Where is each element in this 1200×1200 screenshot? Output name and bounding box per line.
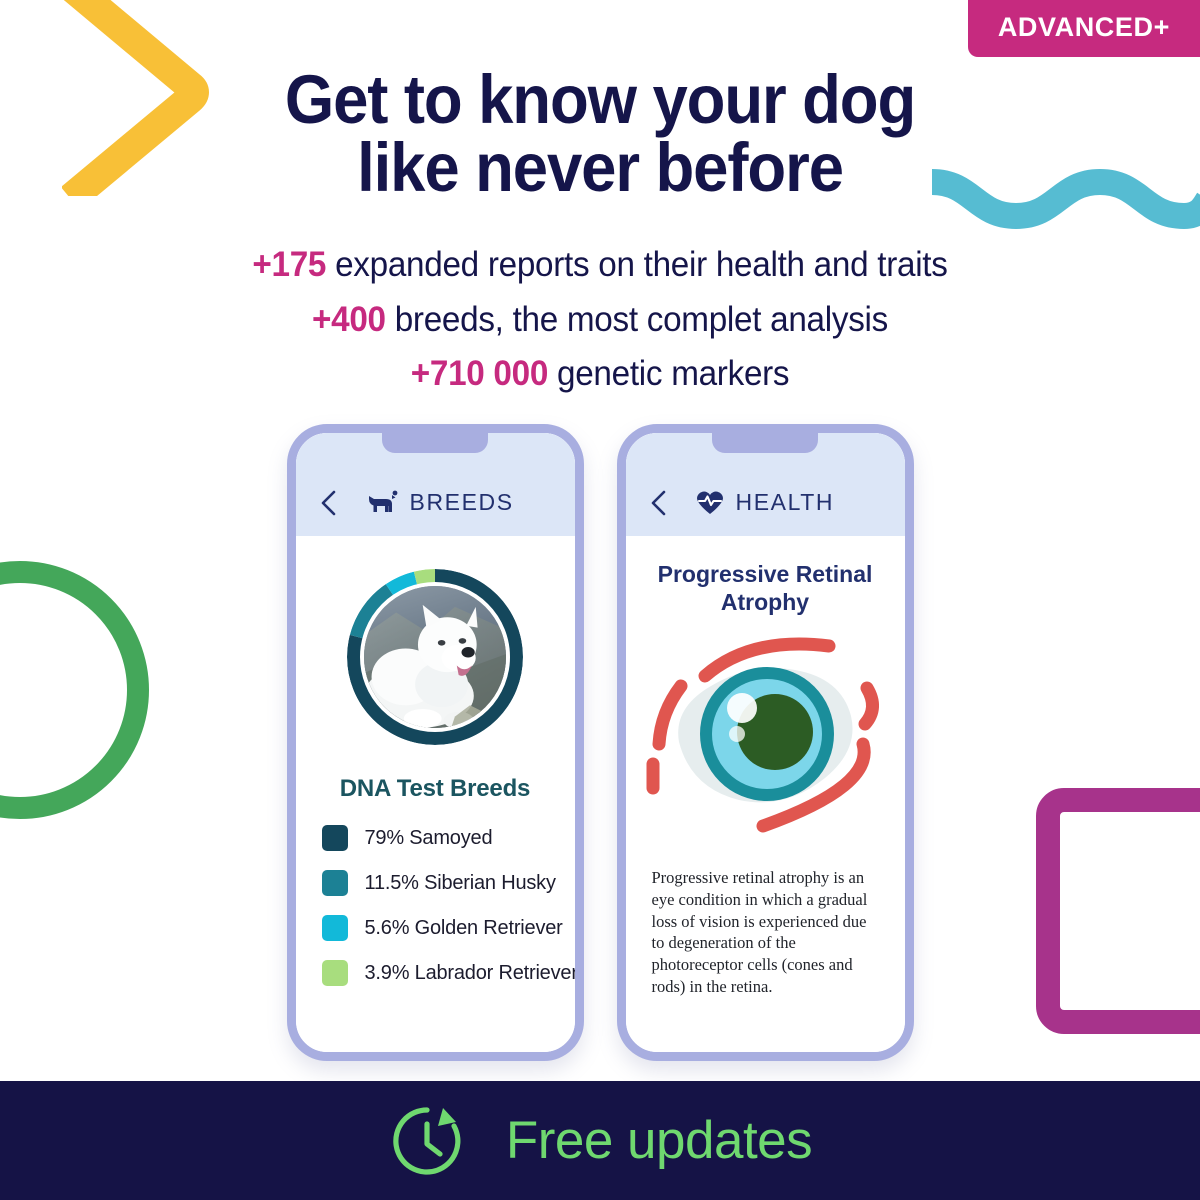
breeds-section-title: DNA Test Breeds	[296, 775, 575, 803]
phone-breeds: BREEDS	[287, 424, 584, 1061]
headline-line-2: like never before	[48, 134, 1152, 202]
breed-label: 11.5% Siberian Husky	[365, 872, 556, 895]
breed-color-swatch	[322, 870, 348, 896]
subheadline-text: expanded reports on their health and tra…	[326, 245, 947, 284]
breed-list: 79% Samoyed 11.5% Siberian Husky 5.6% Go…	[322, 825, 575, 986]
breed-label: 3.9% Labrador Retriever	[365, 962, 575, 985]
breeds-screen-body: DNA Test Breeds 79% Samoyed 11.5% Siberi…	[296, 536, 575, 1052]
samoyed-dog-photo	[360, 582, 510, 732]
breed-list-item: 79% Samoyed	[322, 825, 575, 851]
phone-notch	[712, 433, 818, 453]
phone-side-button	[579, 563, 583, 615]
advanced-plus-badge: ADVANCED+	[968, 0, 1200, 57]
subheadline-number: +400	[312, 300, 386, 339]
subheadline-item: +175 expanded reports on their health an…	[30, 238, 1170, 293]
eye-illustration-wrap	[626, 624, 905, 855]
subheadline-list: +175 expanded reports on their health an…	[30, 238, 1170, 402]
breed-color-swatch	[322, 960, 348, 986]
phone-side-button	[909, 563, 913, 615]
phone-health: HEALTH Progressive Retinal Atrophy	[617, 424, 914, 1061]
dog-avatar	[347, 569, 523, 745]
footer-bar: Free updates	[0, 1081, 1200, 1200]
chevron-left-icon[interactable]	[318, 489, 338, 517]
breeds-header-title: BREEDS	[410, 489, 514, 516]
subheadline-item: +710 000 genetic markers	[30, 347, 1170, 402]
breed-color-swatch	[322, 915, 348, 941]
chevron-left-icon[interactable]	[648, 489, 668, 517]
breed-list-item: 11.5% Siberian Husky	[322, 870, 575, 896]
condition-title: Progressive Retinal Atrophy	[652, 560, 879, 616]
phone-notch	[382, 433, 488, 453]
subheadline-text: breeds, the most complet analysis	[386, 300, 888, 339]
breed-list-item: 3.9% Labrador Retriever	[322, 960, 575, 986]
condition-description: Progressive retinal atrophy is an eye co…	[652, 867, 879, 998]
breed-label: 5.6% Golden Retriever	[365, 917, 563, 940]
phone-mockups: BREEDS	[0, 424, 1200, 1061]
subheadline-number: +710 000	[411, 354, 548, 393]
health-header-title: HEALTH	[736, 489, 835, 516]
phone-side-button	[909, 519, 913, 549]
heart-pulse-icon	[696, 490, 724, 516]
eye-icon	[639, 624, 891, 850]
headline-line-1: Get to know your dog	[285, 61, 915, 138]
health-screen-body: Progressive Retinal Atrophy	[626, 536, 905, 1052]
subheadline-text: genetic markers	[548, 354, 789, 393]
page-title: Get to know your dog like never before	[48, 66, 1152, 203]
breed-label: 79% Samoyed	[365, 827, 493, 850]
phone-side-button	[579, 519, 583, 549]
free-updates-label: Free updates	[506, 1110, 812, 1171]
breed-color-swatch	[322, 825, 348, 851]
breed-list-item: 5.6% Golden Retriever	[322, 915, 575, 941]
subheadline-number: +175	[252, 245, 326, 284]
subheadline-item: +400 breeds, the most complet analysis	[30, 293, 1170, 348]
dog-icon	[366, 490, 398, 516]
clock-refresh-icon	[388, 1102, 466, 1180]
